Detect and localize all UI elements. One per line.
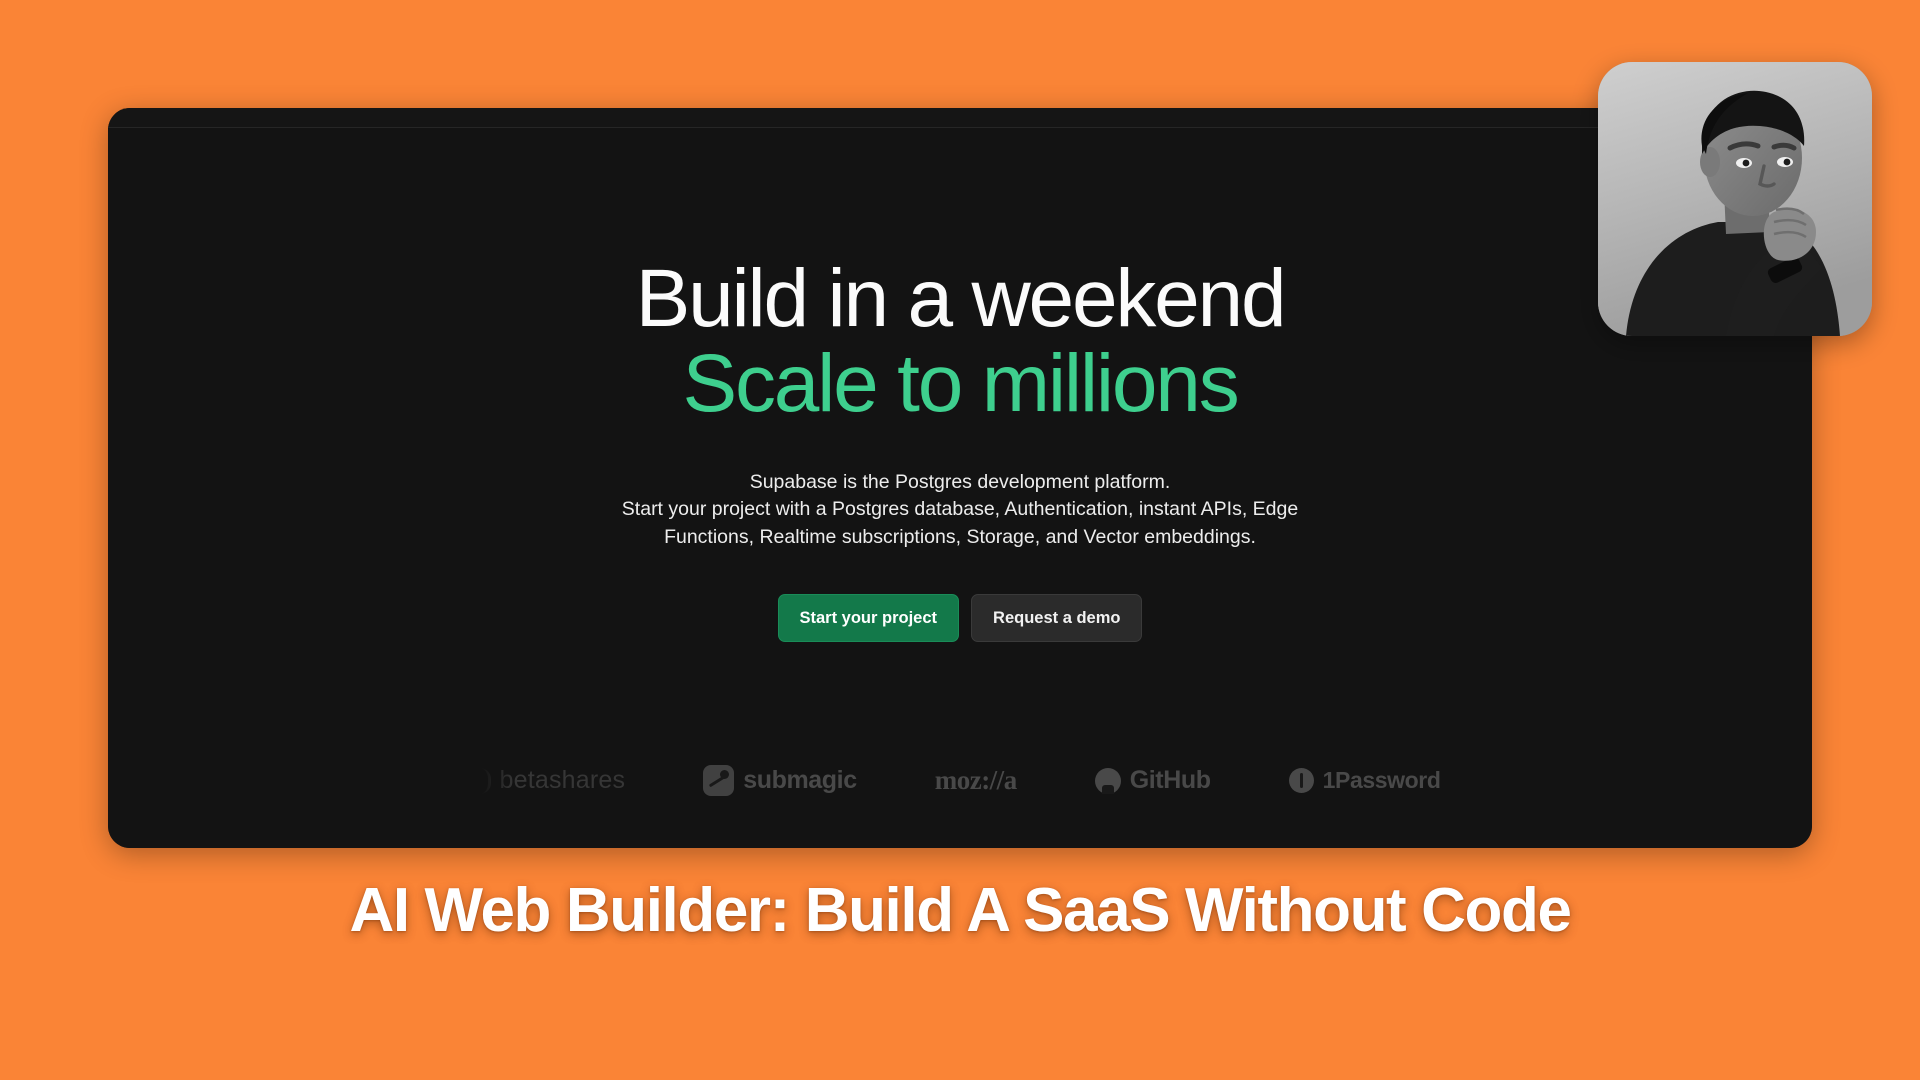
logo-betashares: betashares [480,766,626,795]
presenter-webcam [1598,62,1872,336]
subcopy-line-3: Functions, Realtime subscriptions, Stora… [590,524,1330,552]
github-octocat-icon [1095,768,1121,794]
hero-section: Build in a weekend Scale to millions Sup… [108,128,1812,848]
logo-mozilla-label: moz://a [935,765,1017,796]
subcopy-line-1: Supabase is the Postgres development pla… [590,469,1330,497]
cta-button-row: Start your project Request a demo [778,594,1143,643]
submagic-wand-icon [703,765,734,796]
logo-submagic-label: submagic [743,766,857,795]
logo-1password-label: 1Password [1323,767,1441,794]
logo-1password: 1Password [1289,767,1441,794]
hero-headline: Build in a weekend Scale to millions [636,256,1285,427]
browser-chrome-bar [108,108,1812,128]
betashares-mark-icon [480,768,491,794]
logo-mozilla: moz://a [935,765,1017,796]
headline-line-1: Build in a weekend [636,256,1285,341]
request-a-demo-button[interactable]: Request a demo [971,594,1142,643]
start-your-project-button[interactable]: Start your project [778,594,960,643]
subcopy-line-2: Start your project with a Postgres datab… [590,496,1330,524]
logo-betashares-label: betashares [500,766,626,795]
headline-line-2: Scale to millions [636,341,1285,426]
logo-github: GitHub [1095,766,1211,795]
screen-share-card: Build in a weekend Scale to millions Sup… [108,108,1812,848]
logo-github-label: GitHub [1130,766,1211,795]
webcam-video-frame [1598,62,1872,336]
1password-icon [1289,768,1314,793]
video-caption-title: AI Web Builder: Build A SaaS Without Cod… [0,880,1920,942]
customer-logo-strip: betashares submagic moz://a GitHub 1Pass… [108,765,1812,796]
hero-subcopy: Supabase is the Postgres development pla… [590,469,1330,552]
logo-submagic: submagic [703,765,857,796]
